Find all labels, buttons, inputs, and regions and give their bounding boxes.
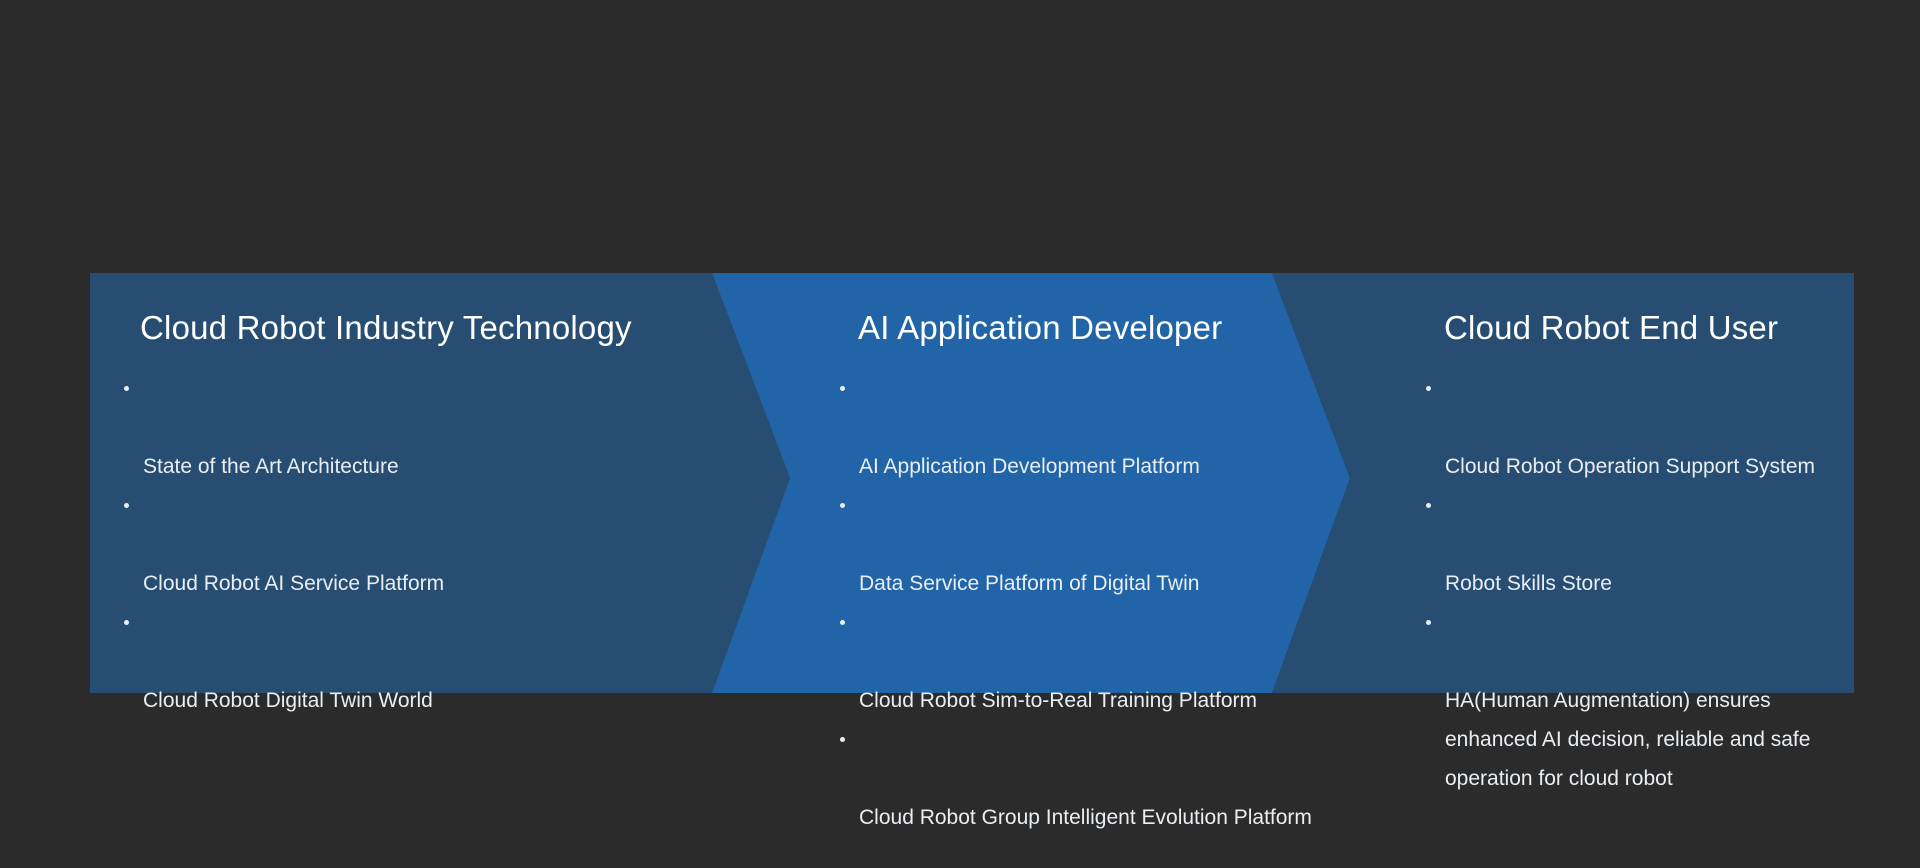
bullet-dot-icon bbox=[124, 503, 129, 508]
list-item: Cloud Robot Operation Support System bbox=[1424, 369, 1854, 486]
stage-bullet-list-middle: AI Application Development Platform Data… bbox=[838, 369, 1350, 837]
list-item-label: Cloud Robot AI Service Platform bbox=[143, 572, 444, 595]
stage-title-left: Cloud Robot Industry Technology bbox=[140, 309, 790, 347]
list-item: Cloud Robot Group Intelligent Evolution … bbox=[838, 720, 1339, 837]
stage-content-left: Cloud Robot Industry Technology State of… bbox=[90, 273, 790, 720]
list-item-label: Data Service Platform of Digital Twin bbox=[859, 572, 1199, 595]
list-item-label: Cloud Robot Sim-to-Real Training Platfor… bbox=[859, 689, 1257, 712]
stage-panel-industry-technology: Cloud Robot Industry Technology State of… bbox=[90, 273, 790, 693]
list-item-label: HA(Human Augmentation) ensures enhanced … bbox=[1445, 689, 1810, 790]
list-item: Data Service Platform of Digital Twin bbox=[838, 486, 1339, 603]
bullet-dot-icon bbox=[1426, 503, 1431, 508]
list-item: State of the Art Architecture bbox=[122, 369, 623, 486]
bullet-dot-icon bbox=[840, 386, 845, 391]
bullet-dot-icon bbox=[840, 737, 845, 742]
list-item: Cloud Robot AI Service Platform bbox=[122, 486, 623, 603]
stage-title-right: Cloud Robot End User bbox=[1444, 309, 1854, 347]
list-item: Robot Skills Store bbox=[1424, 486, 1854, 603]
stage-bullet-list-right: Cloud Robot Operation Support System Rob… bbox=[1424, 369, 1854, 798]
stage-panel-cloud-robot-end-user: Cloud Robot End User Cloud Robot Operati… bbox=[1350, 273, 1854, 693]
bullet-dot-icon bbox=[840, 620, 845, 625]
list-item: Cloud Robot Digital Twin World bbox=[122, 603, 623, 720]
list-item-label: State of the Art Architecture bbox=[143, 455, 399, 478]
bullet-dot-icon bbox=[124, 620, 129, 625]
list-item-label: Cloud Robot Group Intelligent Evolution … bbox=[859, 806, 1312, 829]
stage-content-middle: AI Application Developer AI Application … bbox=[790, 273, 1350, 837]
bullet-dot-icon bbox=[840, 503, 845, 508]
stage-panel-ai-application-developer: AI Application Developer AI Application … bbox=[790, 273, 1350, 693]
list-item: Cloud Robot Sim-to-Real Training Platfor… bbox=[838, 603, 1339, 720]
list-item-label: AI Application Development Platform bbox=[859, 455, 1200, 478]
stage-bullet-list-left: State of the Art Architecture Cloud Robo… bbox=[122, 369, 790, 720]
list-item: HA(Human Augmentation) ensures enhanced … bbox=[1424, 603, 1854, 798]
stage-title-middle: AI Application Developer bbox=[858, 309, 1350, 347]
bullet-dot-icon bbox=[1426, 620, 1431, 625]
stage-content-right: Cloud Robot End User Cloud Robot Operati… bbox=[1350, 273, 1854, 798]
list-item-label: Cloud Robot Operation Support System bbox=[1445, 455, 1815, 478]
list-item-label: Cloud Robot Digital Twin World bbox=[143, 689, 433, 712]
list-item: AI Application Development Platform bbox=[838, 369, 1339, 486]
list-item-label: Robot Skills Store bbox=[1445, 572, 1612, 595]
bullet-dot-icon bbox=[124, 386, 129, 391]
bullet-dot-icon bbox=[1426, 386, 1431, 391]
chevron-diagram-band: Cloud Robot Industry Technology State of… bbox=[90, 273, 1854, 693]
